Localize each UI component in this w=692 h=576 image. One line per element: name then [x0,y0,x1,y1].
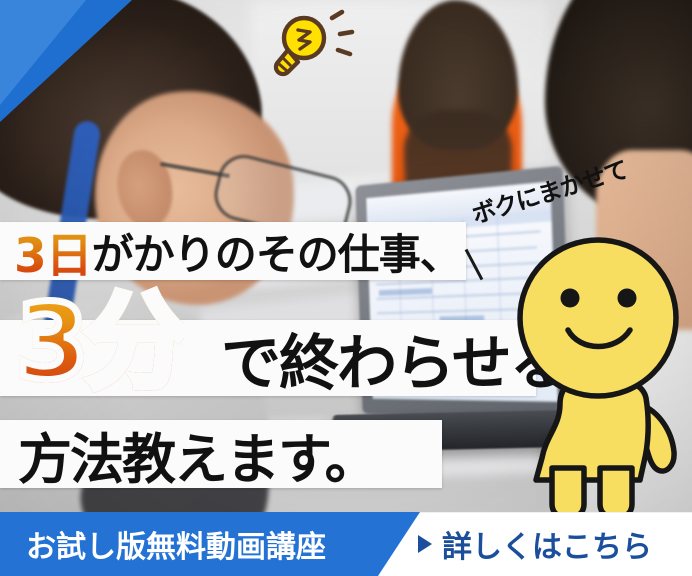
headline-1-rest: がかりのその仕事、 [92,221,461,282]
headline-line-3: 方法教えます。 [0,420,442,488]
details-cta-link[interactable]: 詳しくはこちら [418,512,652,576]
headline-2-accent-outer: 3分 [16,290,184,394]
headline-3-rest: 方法教えます。 [18,415,377,494]
headline-2-accent-wrap: 3分 [0,320,520,396]
mascot-eye-right [618,289,637,308]
headline-2-accent: 3分 [16,281,184,403]
triangle-right-icon [418,535,432,553]
headline-1-accent: 3日 [14,217,92,286]
trial-badge[interactable]: お試し版無料動画講座 [0,512,420,576]
trial-badge-label: お試し版無料動画講座 [0,522,326,566]
headline-line-1: 3日 がかりのその仕事、 [0,222,466,280]
mascot-eye-left [561,289,580,308]
details-cta-label: 詳しくはこちら [442,522,652,566]
yellow-mascot-character [490,236,690,520]
promo-banner: 3日 がかりのその仕事、 で終わらせる 3分 方法教えます。 ボクにまかせて [0,0,692,576]
lightbulb-icon [258,8,358,84]
bottom-cta-bar[interactable]: お試し版無料動画講座 詳しくはこちら [0,512,692,576]
